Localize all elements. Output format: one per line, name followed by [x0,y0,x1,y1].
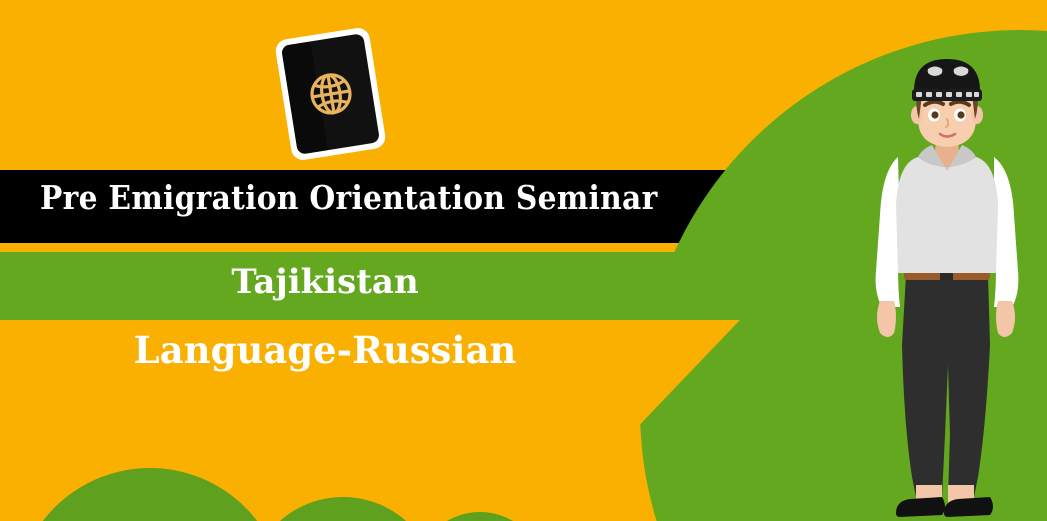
left-sleeve [876,157,900,307]
right-hand [996,301,1015,337]
vest [896,157,998,273]
banner-accent-strip [0,243,780,252]
left-hand [877,301,896,337]
trousers [902,275,990,497]
right-pupil [957,111,964,118]
left-pupil [931,111,938,118]
poster-canvas: Pre Emigration Orientation Seminar Tajik… [0,0,1047,521]
language-label: Language-Russian [0,328,650,372]
passport-icon [274,26,387,161]
globe-icon [301,64,360,123]
tajik-man-illustration [862,45,1047,521]
country-label: Tajikistan [0,262,650,302]
right-sleeve [994,157,1018,307]
left-shoe [896,497,945,517]
page-title: Pre Emigration Orientation Seminar [40,178,660,217]
